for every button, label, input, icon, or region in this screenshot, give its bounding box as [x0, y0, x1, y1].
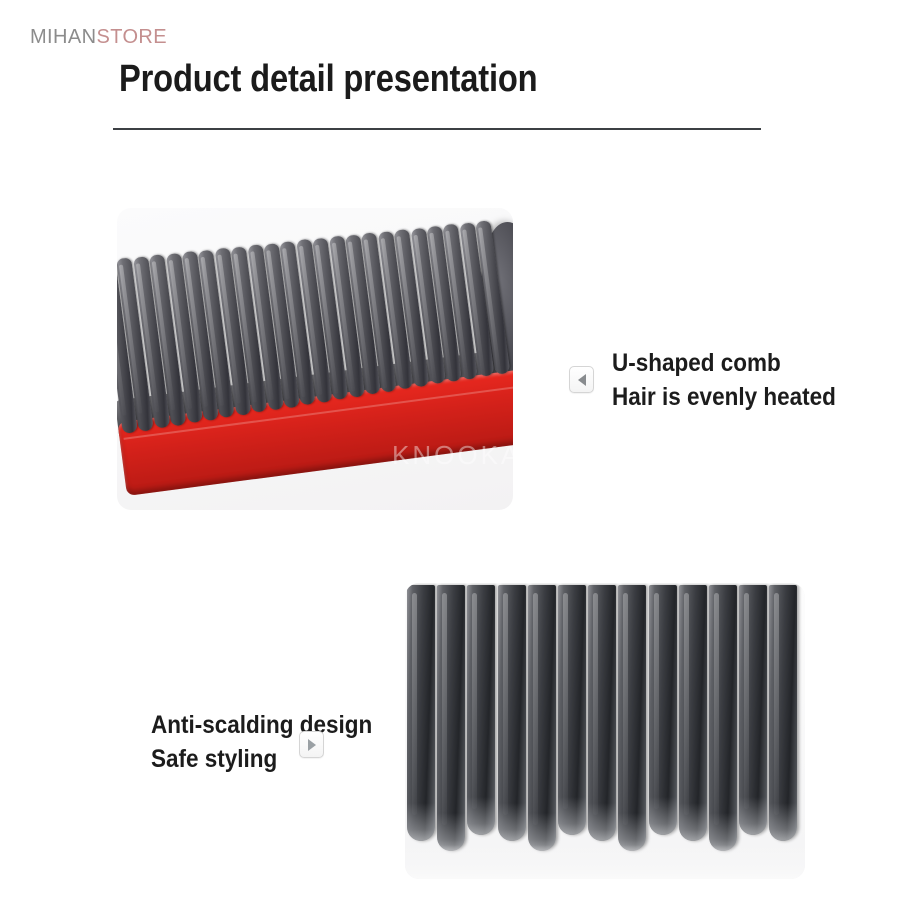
title-divider [113, 128, 761, 130]
product-photo-two [405, 583, 805, 879]
brand-logo-primary: MIHAN [30, 26, 96, 48]
callout-anti-scalding: Anti-scalding design Safe styling [151, 708, 372, 776]
next-arrow-button[interactable] [299, 731, 324, 758]
macro-tooth [498, 585, 526, 841]
macro-teeth-group [405, 585, 805, 865]
product-detail-page: MIHANSTORE Product detail presentation K… [0, 0, 900, 900]
macro-tooth [618, 585, 646, 851]
macro-tooth [769, 585, 797, 841]
callout-two-line-two: Safe styling [151, 742, 372, 776]
macro-tooth [437, 585, 465, 851]
product-photo-card-one: KNOOKAR [117, 208, 513, 510]
prev-arrow-button[interactable] [569, 366, 594, 393]
product-photo-one: KNOOKAR [117, 208, 513, 510]
brush-illustration [117, 208, 513, 510]
macro-tooth [739, 585, 767, 835]
brand-logo: MIHANSTORE [30, 27, 167, 47]
macro-tooth [649, 585, 677, 835]
triangle-right-icon [308, 739, 316, 751]
triangle-left-icon [578, 374, 586, 386]
page-title: Product detail presentation [119, 56, 537, 102]
macro-tooth [679, 585, 707, 841]
macro-bottom-fade [405, 845, 805, 879]
callout-u-shaped-comb: U-shaped comb Hair is evenly heated [612, 346, 836, 414]
macro-tooth [709, 585, 737, 851]
macro-tooth [588, 585, 616, 841]
macro-tooth [467, 585, 495, 835]
macro-tooth [558, 585, 586, 835]
callout-one-line-one: U-shaped comb [612, 346, 836, 380]
macro-tooth [407, 585, 435, 841]
macro-tooth [528, 585, 556, 851]
product-photo-card-two [405, 583, 805, 879]
brand-logo-secondary: STORE [96, 26, 167, 48]
callout-one-line-two: Hair is evenly heated [612, 380, 836, 414]
callout-two-line-one: Anti-scalding design [151, 708, 372, 742]
